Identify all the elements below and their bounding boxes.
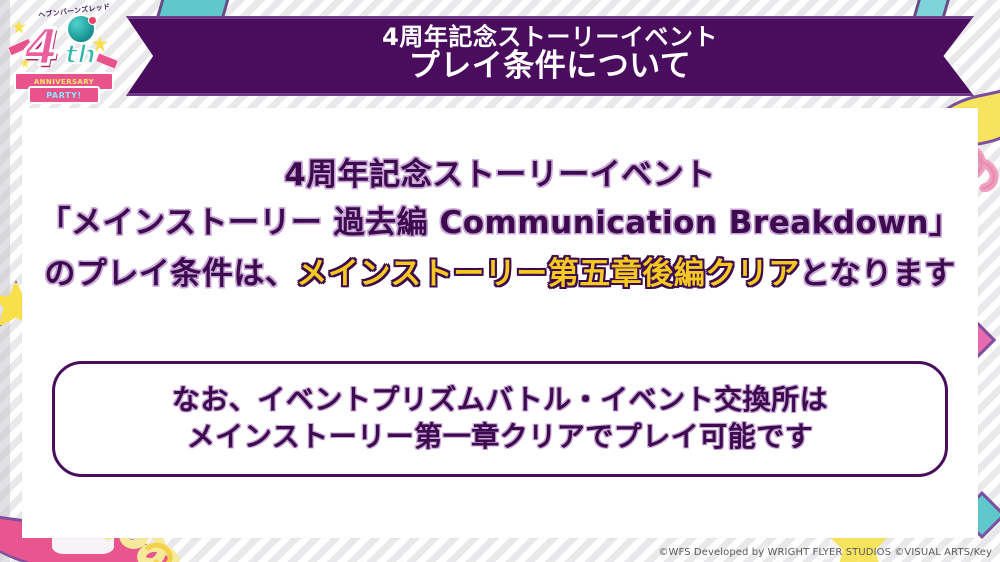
logo-banner-anniversary-label: ANNIVERSARY	[34, 78, 94, 86]
anniversary-logo: ヘブンバーンズレッド 4 th ANNIVERSARY PARTY!	[8, 2, 116, 104]
logo-number: 4	[24, 22, 59, 72]
header-ribbon	[126, 16, 974, 96]
note-line-1: なお、イベントプリズムバトル・イベント交換所は	[172, 382, 828, 419]
note-box: なお、イベントプリズムバトル・イベント交換所は メインストーリー第一章クリアでプ…	[52, 361, 948, 477]
body-line-2: 「メインストーリー 過去編 Communication Breakdown」	[22, 208, 978, 239]
note-line-2: メインストーリー第一章クリアでプレイ可能です	[187, 419, 813, 456]
body-text-block: 4周年記念ストーリーイベント 「メインストーリー 過去編 Communicati…	[22, 160, 978, 290]
logo-ribbon-right	[95, 52, 119, 70]
logo-banner-party-label: PARTY!	[46, 91, 82, 100]
body-line-3-prefix: のプレイ条件は、	[44, 256, 296, 292]
body-line-1: 4周年記念ストーリーイベント	[22, 160, 978, 191]
logo-ordinal: th	[65, 42, 96, 68]
logo-banner-party: PARTY!	[28, 86, 100, 104]
body-line-3: のプレイ条件は、メインストーリー第五章後編クリアとなります	[22, 259, 978, 290]
logo-cherry-icon	[88, 16, 97, 25]
body-line-3-highlight: メインストーリー第五章後編クリア	[296, 256, 799, 292]
slide-canvas: 4周年記念ストーリーイベント プレイ条件について ヘブンバーンズレッド 4 th…	[0, 0, 1000, 562]
copyright-text: ©WFS Developed by WRIGHT FLYER STUDIOS ©…	[658, 547, 992, 558]
body-line-3-suffix: となります	[799, 256, 956, 292]
